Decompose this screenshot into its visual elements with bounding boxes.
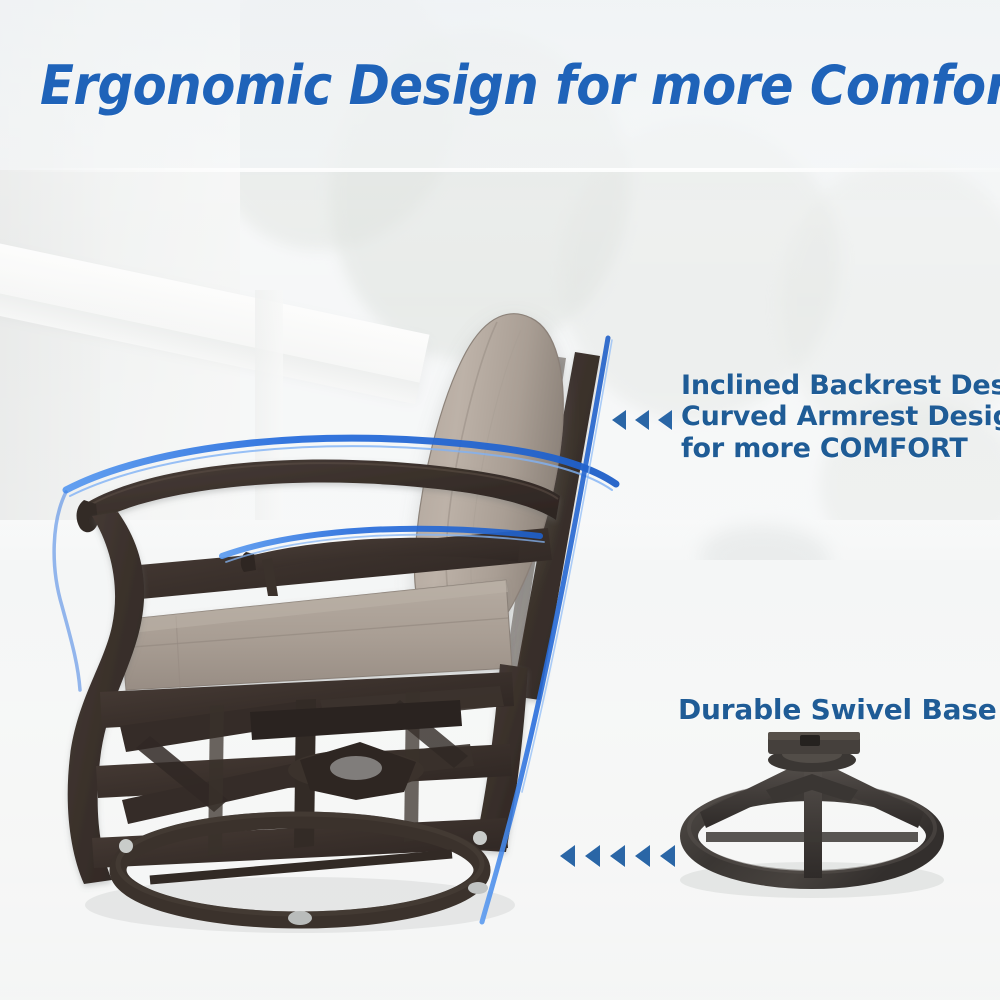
left-arrow-icon <box>612 410 626 430</box>
left-arrow-icon <box>585 845 600 867</box>
page-title: Ergonomic Design for more Comfort <box>40 54 960 117</box>
left-arrow-icon <box>635 410 649 430</box>
comfort-annotation-line-2: Curved Armrest Design <box>681 401 1000 432</box>
comfort-annotation-line-1: Inclined Backrest Design <box>681 370 1000 401</box>
base-hub <box>768 732 860 772</box>
comfort-annotation-line-3: for more COMFORT <box>681 433 1000 464</box>
swivel-base-annotation: Durable Swivel Base <box>678 694 997 726</box>
infographic-canvas: Ergonomic Design for more Comfort Inclin… <box>0 0 1000 1000</box>
left-arrow-icon <box>635 845 650 867</box>
left-arrow-icon <box>610 845 625 867</box>
left-arrow-icon <box>660 845 675 867</box>
comfort-annotation: Inclined Backrest Design Curved Armrest … <box>681 370 1000 464</box>
left-arrow-icon <box>560 845 575 867</box>
swivel-arrow-group <box>560 845 675 867</box>
comfort-arrow-group <box>612 410 672 430</box>
left-arrow-icon <box>658 410 672 430</box>
header-divider <box>0 168 1000 172</box>
